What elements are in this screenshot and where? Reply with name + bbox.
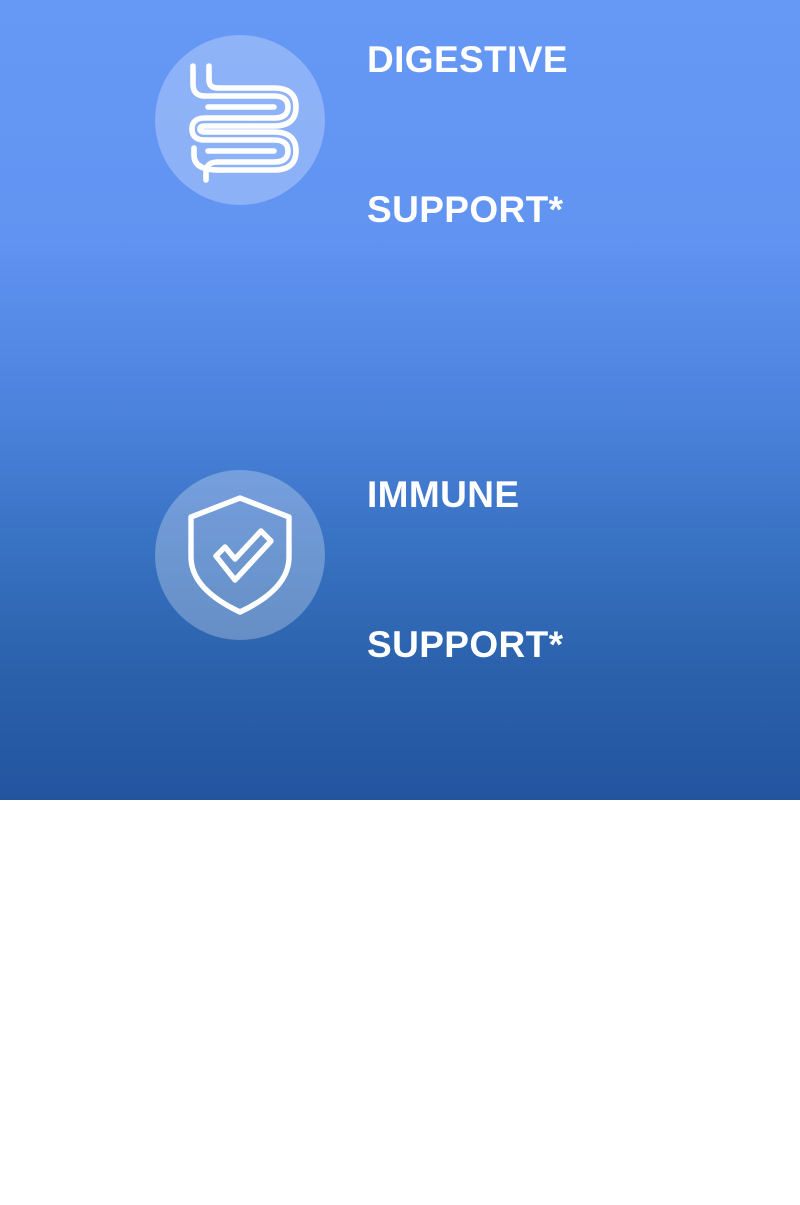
feature-label-no-artificial-flavors: NO ARTIFICIAL FLAVORS <box>367 805 642 1205</box>
icon-badge-digestive <box>155 35 325 205</box>
feature-row: DIGESTIVE SUPPORT* <box>0 35 800 235</box>
intestine-icon <box>178 58 302 182</box>
feature-label-line1: DIGESTIVE <box>367 35 568 85</box>
benefits-panel: DIGESTIVE SUPPORT* IMMUNE SUPPORT* <box>0 0 800 800</box>
feature-label-line2: FLAVORS <box>367 1055 642 1105</box>
feature-label-line1: NO ARTIFICIAL <box>367 905 642 955</box>
shield-check-icon <box>185 494 295 616</box>
no-dropper-icon <box>179 929 301 1051</box>
icon-badge-immune <box>155 470 325 640</box>
feature-label-immune: IMMUNE SUPPORT* <box>367 370 563 770</box>
feature-label-line2: SUPPORT* <box>367 620 563 670</box>
feature-label-line1: IMMUNE <box>367 470 563 520</box>
feature-row: IMMUNE SUPPORT* <box>0 470 800 670</box>
feature-label-digestive: DIGESTIVE SUPPORT* <box>367 0 568 335</box>
icon-badge-no-artificial-flavors <box>155 905 325 1075</box>
feature-label-line2: SUPPORT* <box>367 185 568 235</box>
feature-row: NO ARTIFICIAL FLAVORS <box>0 905 800 1105</box>
